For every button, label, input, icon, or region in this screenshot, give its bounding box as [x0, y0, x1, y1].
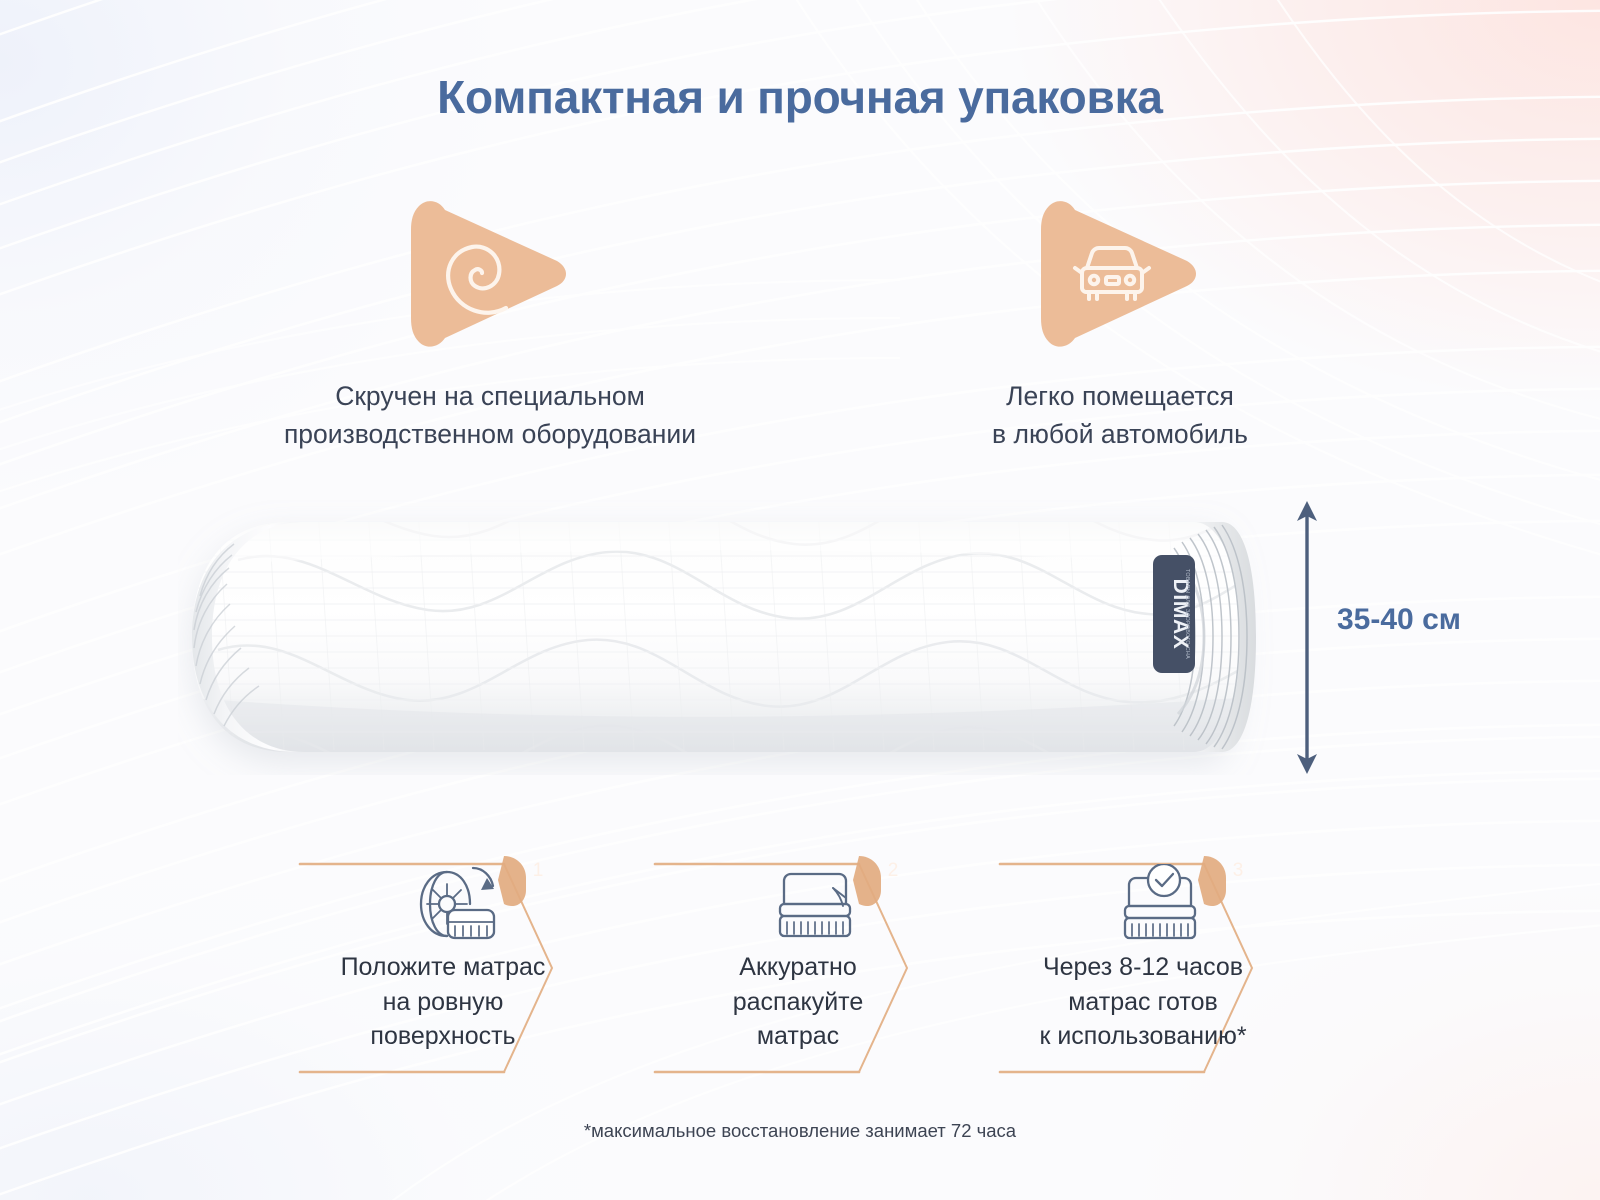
rolled-mattress-image: DIMAX ТОВАРЫ ДЛЯ ЗДОРОВОГО СНА: [178, 500, 1278, 775]
steps-row: 1 Положите матрас на ровную поверхность: [290, 838, 1340, 1098]
step-2[interactable]: 2 Аккуратно распакуйте матрас: [645, 838, 985, 1098]
dimension-label: 35-40 см: [1337, 603, 1461, 637]
brand-label-dimax: DIMAX ТОВАРЫ ДЛЯ ЗДОРОВОГО СНА: [1153, 555, 1195, 673]
feature-badge-rolled: [170, 196, 810, 356]
feature-badge-car: [830, 196, 1410, 356]
dimension-indicator: 35-40 см: [1285, 495, 1555, 780]
step-number-1: 1: [518, 848, 558, 894]
rounded-triangle-badge: [1035, 196, 1205, 351]
mattress-unpack-icon: [775, 864, 855, 949]
step-1[interactable]: 1 Положите матрас на ровную поверхность: [290, 838, 630, 1098]
step-text-1: Положите матрас на ровную поверхность: [290, 950, 596, 1054]
footnote-text: *максимальное восстановление занимает 72…: [0, 1120, 1600, 1142]
feature-caption-car: Легко помещается в любой автомобиль: [830, 378, 1410, 453]
feature-caption-rolled: Скручен на специальном производственном …: [170, 378, 810, 453]
page-title: Компактная и прочная упаковка: [0, 70, 1600, 124]
rolled-mattress-unroll-icon: [417, 864, 503, 951]
brand-label-subtext: ТОВАРЫ ДЛЯ ЗДОРОВОГО СНА: [1184, 569, 1190, 659]
mattress-check-icon: [1120, 864, 1200, 949]
feature-block-car: Легко помещается в любой автомобиль: [830, 196, 1410, 453]
rounded-triangle-badge: [405, 196, 575, 351]
step-number-2: 2: [873, 848, 913, 894]
step-text-3: Через 8-12 часов матрас готов к использо…: [990, 950, 1296, 1054]
feature-block-rolled: Скручен на специальном производственном …: [170, 196, 810, 453]
step-3[interactable]: 3 Через 8-12 часов матрас готов к исполь…: [990, 838, 1330, 1098]
double-headed-vertical-arrow: [1285, 495, 1555, 780]
step-number-3: 3: [1218, 848, 1258, 894]
step-text-2: Аккуратно распакуйте матрас: [645, 950, 951, 1054]
